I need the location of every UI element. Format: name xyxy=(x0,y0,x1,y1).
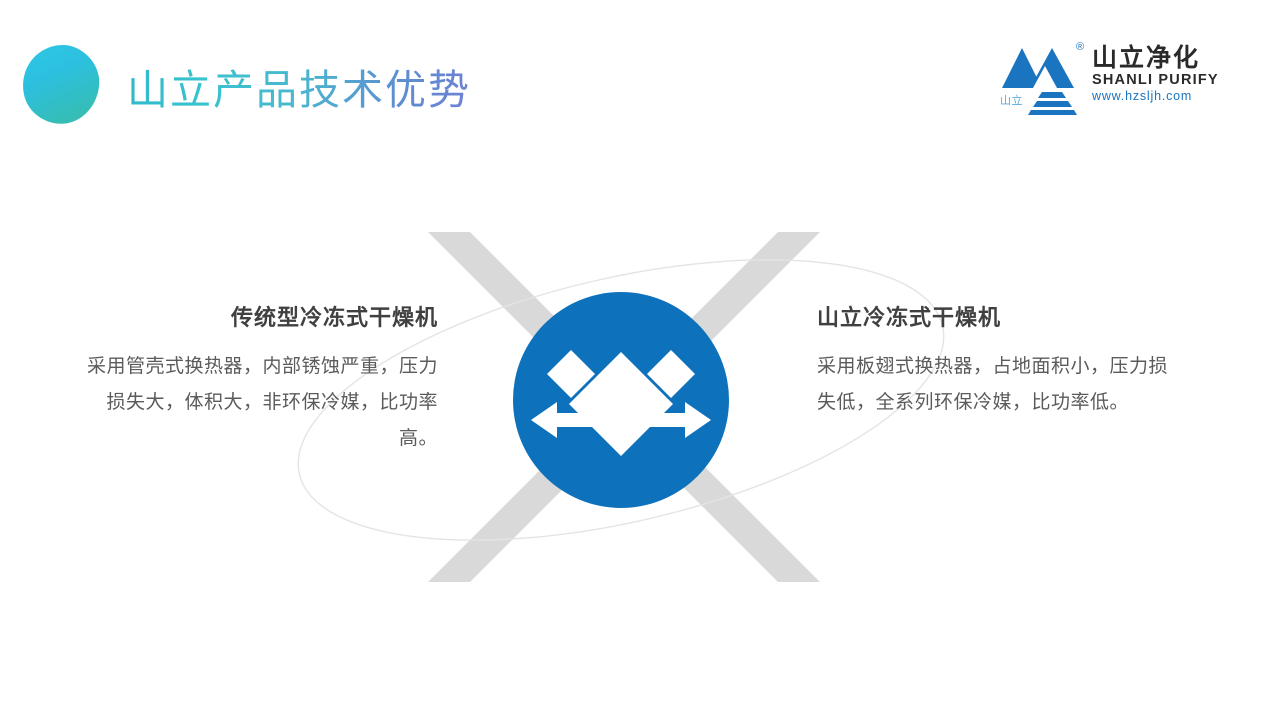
compare-diamonds-arrows-icon xyxy=(513,292,729,508)
slide-canvas: 山立产品技术优势 ® 山立 山立净化 SHANLI PURIFY www.hzs… xyxy=(0,0,1280,720)
page-title: 山立产品技术优势 xyxy=(127,62,471,118)
registered-trademark-icon: ® xyxy=(1076,42,1084,53)
logo-company-cn: 山立净化 xyxy=(1092,45,1216,72)
company-logo[interactable]: ® 山立 山立净化 SHANLI PURIFY www.hzsljh.com xyxy=(1000,38,1212,120)
column-body-shanli: 采用板翅式换热器，占地面积小，压力损失低，全系列环保冷媒，比功率低。 xyxy=(817,349,1187,421)
column-heading-traditional: 传统型冷冻式干燥机 xyxy=(68,303,438,333)
logo-badge-label: 山立 xyxy=(1000,95,1023,108)
column-traditional: 传统型冷冻式干燥机 采用管壳式换热器，内部锈蚀严重，压力损失大，体积大，非环保冷… xyxy=(68,303,438,457)
logo-company-en: SHANLI PURIFY xyxy=(1092,72,1216,89)
column-body-traditional: 采用管壳式换热器，内部锈蚀严重，压力损失大，体积大，非环保冷媒，比功率高。 xyxy=(68,349,438,457)
slide-header: 山立产品技术优势 ® 山立 山立净化 SHANLI PURIFY www.hzs… xyxy=(0,0,1280,150)
column-shanli: 山立冷冻式干燥机 采用板翅式换热器，占地面积小，压力损失低，全系列环保冷媒，比功… xyxy=(817,303,1187,421)
logo-website[interactable]: www.hzsljh.com xyxy=(1092,89,1216,104)
logo-text-block: 山立净化 SHANLI PURIFY www.hzsljh.com xyxy=(1092,45,1216,104)
column-heading-shanli: 山立冷冻式干燥机 xyxy=(817,303,1187,333)
blob-shape-icon xyxy=(22,44,100,124)
